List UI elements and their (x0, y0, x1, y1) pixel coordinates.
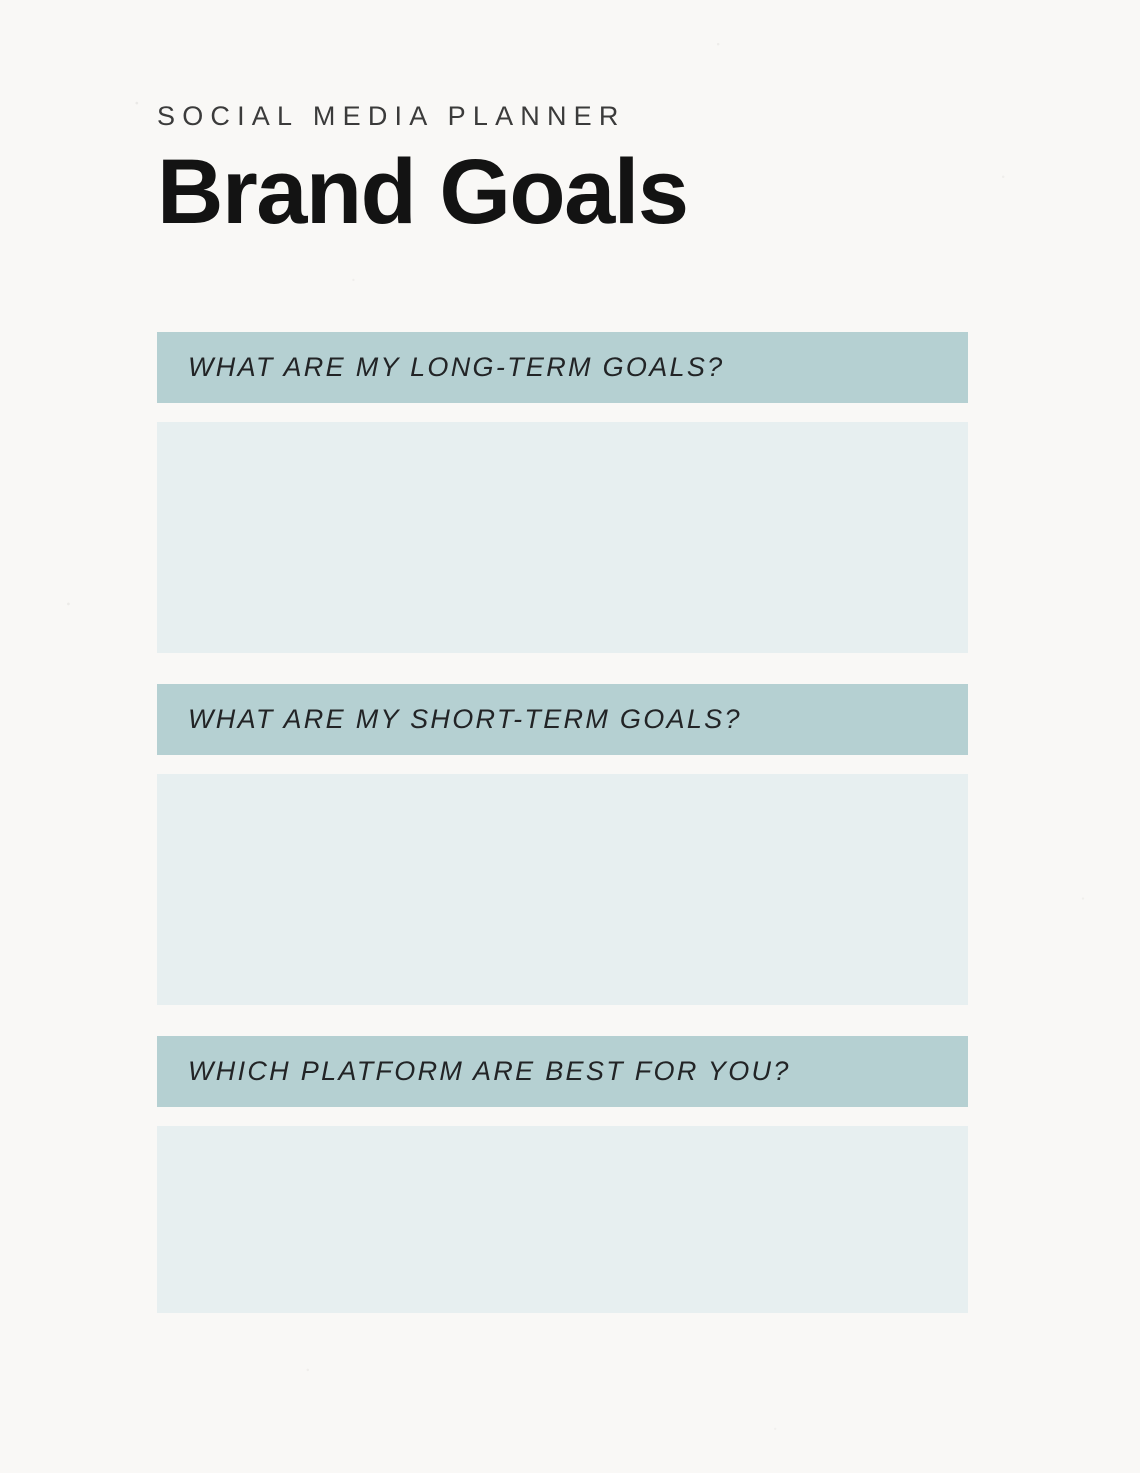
answer-box-short-term-goals[interactable] (157, 774, 968, 1005)
question-label-short-term-goals: WHAT ARE MY SHORT-TERM GOALS? (188, 704, 742, 735)
page-title: Brand Goals (157, 146, 1017, 240)
section-header-long-term-goals: WHAT ARE MY LONG-TERM GOALS? (157, 332, 968, 403)
page-header: SOCIAL MEDIA PLANNER Brand Goals (157, 100, 1017, 240)
answer-input-best-platforms[interactable] (157, 1126, 968, 1313)
section-header-short-term-goals: WHAT ARE MY SHORT-TERM GOALS? (157, 684, 968, 755)
planner-eyebrow-label: SOCIAL MEDIA PLANNER (157, 100, 1017, 132)
section-long-term-goals: WHAT ARE MY LONG-TERM GOALS? (157, 332, 968, 653)
answer-input-long-term-goals[interactable] (157, 422, 968, 653)
answer-box-best-platforms[interactable] (157, 1126, 968, 1313)
answer-box-long-term-goals[interactable] (157, 422, 968, 653)
section-best-platforms: WHICH PLATFORM ARE BEST FOR YOU? (157, 1036, 968, 1313)
question-sections: WHAT ARE MY LONG-TERM GOALS? WHAT ARE MY… (157, 332, 968, 1313)
question-label-long-term-goals: WHAT ARE MY LONG-TERM GOALS? (188, 352, 724, 383)
section-short-term-goals: WHAT ARE MY SHORT-TERM GOALS? (157, 684, 968, 1005)
answer-input-short-term-goals[interactable] (157, 774, 968, 1005)
section-header-best-platforms: WHICH PLATFORM ARE BEST FOR YOU? (157, 1036, 968, 1107)
question-label-best-platforms: WHICH PLATFORM ARE BEST FOR YOU? (188, 1056, 791, 1087)
planner-page: SOCIAL MEDIA PLANNER Brand Goals WHAT AR… (0, 0, 1140, 1473)
